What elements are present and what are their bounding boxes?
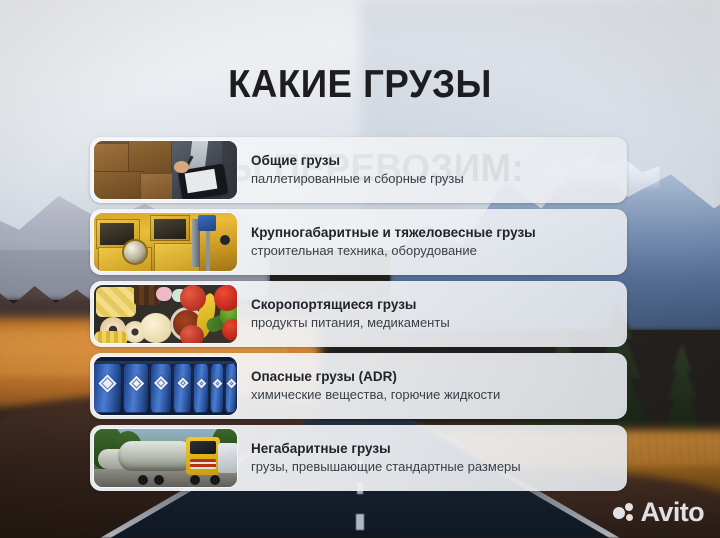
avito-wordmark: Avito bbox=[641, 499, 705, 526]
cargo-title: Опасные грузы (ADR) bbox=[251, 368, 617, 385]
cargo-text: Негабаритные грузы грузы, превышающие ст… bbox=[237, 440, 627, 476]
list-item[interactable]: Негабаритные грузы грузы, превышающие ст… bbox=[90, 425, 627, 491]
cargo-thumbnail-dangerous-adr bbox=[94, 357, 237, 415]
cargo-text: Опасные грузы (ADR) химические вещества,… bbox=[237, 368, 627, 404]
avito-dots-icon bbox=[613, 503, 635, 523]
list-item[interactable]: Крупногабаритные и тяжеловесные грузы ст… bbox=[90, 209, 627, 275]
cargo-title: Общие грузы bbox=[251, 152, 617, 169]
avito-watermark: Avito bbox=[613, 499, 705, 526]
cargo-text: Скоропортящиеся грузы продукты питания, … bbox=[237, 296, 627, 332]
cargo-thumbnail-non-standard bbox=[94, 429, 237, 487]
cargo-title: Скоропортящиеся грузы bbox=[251, 296, 617, 313]
cargo-subtitle: паллетированные и сборные грузы bbox=[251, 170, 617, 188]
list-item[interactable]: Опасные грузы (ADR) химические вещества,… bbox=[90, 353, 627, 419]
cargo-thumbnail-oversized-machinery bbox=[94, 213, 237, 271]
cargo-list: Общие грузы паллетированные и сборные гр… bbox=[90, 137, 627, 497]
promo-poster: КАКИЕ ГРУЗЫ МЫ ПЕРЕВОЗИМ: Общие грузы па… bbox=[0, 0, 720, 538]
cargo-subtitle: продукты питания, медикаменты bbox=[251, 314, 617, 332]
cargo-thumbnail-general bbox=[94, 141, 237, 199]
cargo-subtitle: химические вещества, горючие жидкости bbox=[251, 386, 617, 404]
cargo-title: Негабаритные грузы bbox=[251, 440, 617, 457]
page-title-line-1: КАКИЕ ГРУЗЫ bbox=[22, 64, 699, 106]
cargo-text: Крупногабаритные и тяжеловесные грузы ст… bbox=[237, 224, 627, 260]
cargo-text: Общие грузы паллетированные и сборные гр… bbox=[237, 152, 627, 188]
cargo-subtitle: строительная техника, оборудование bbox=[251, 242, 617, 260]
cargo-thumbnail-perishable bbox=[94, 285, 237, 343]
cargo-title: Крупногабаритные и тяжеловесные грузы bbox=[251, 224, 617, 241]
list-item[interactable]: Скоропортящиеся грузы продукты питания, … bbox=[90, 281, 627, 347]
list-item[interactable]: Общие грузы паллетированные и сборные гр… bbox=[90, 137, 627, 203]
cargo-subtitle: грузы, превышающие стандартные размеры bbox=[251, 458, 617, 476]
